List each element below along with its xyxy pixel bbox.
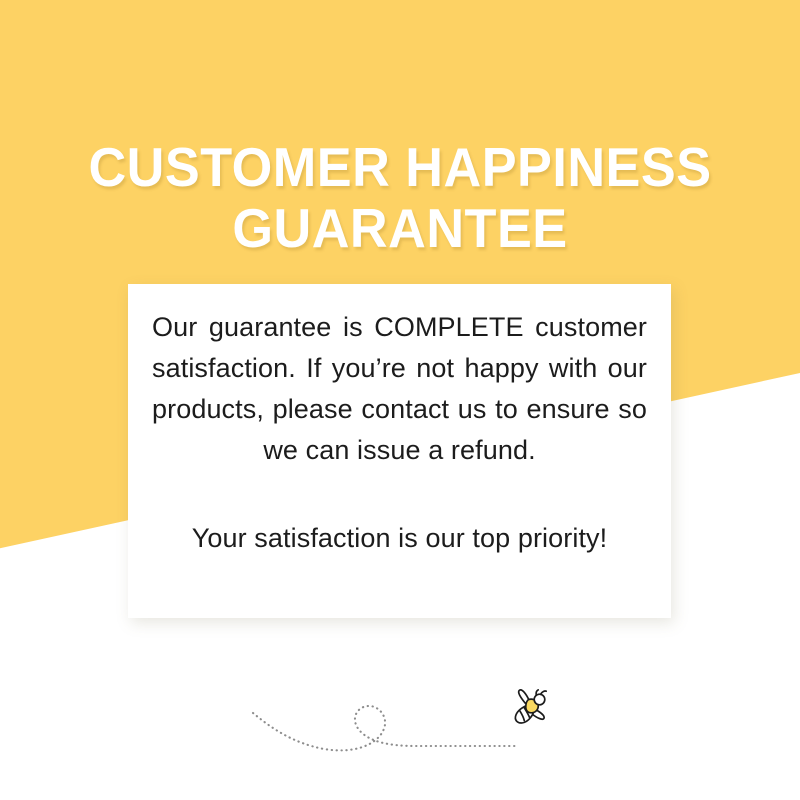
guarantee-card: Our guarantee is COMPLETE customer satis… [128, 284, 671, 618]
dotted-flight-path-icon [240, 665, 530, 760]
page-title: CUSTOMER HAPPINESS GUARANTEE [0, 137, 800, 259]
poster-canvas: CUSTOMER HAPPINESS GUARANTEE Our guarant… [0, 0, 800, 800]
title-line-2: GUARANTEE [20, 198, 780, 259]
guarantee-paragraph-primary: Our guarantee is COMPLETE customer satis… [152, 307, 647, 471]
title-line-1: CUSTOMER HAPPINESS [20, 137, 780, 198]
paragraph-spacer [152, 471, 647, 518]
bee-illustration-icon [506, 686, 550, 730]
guarantee-paragraph-closing: Your satisfaction is our top priority! [152, 518, 647, 559]
